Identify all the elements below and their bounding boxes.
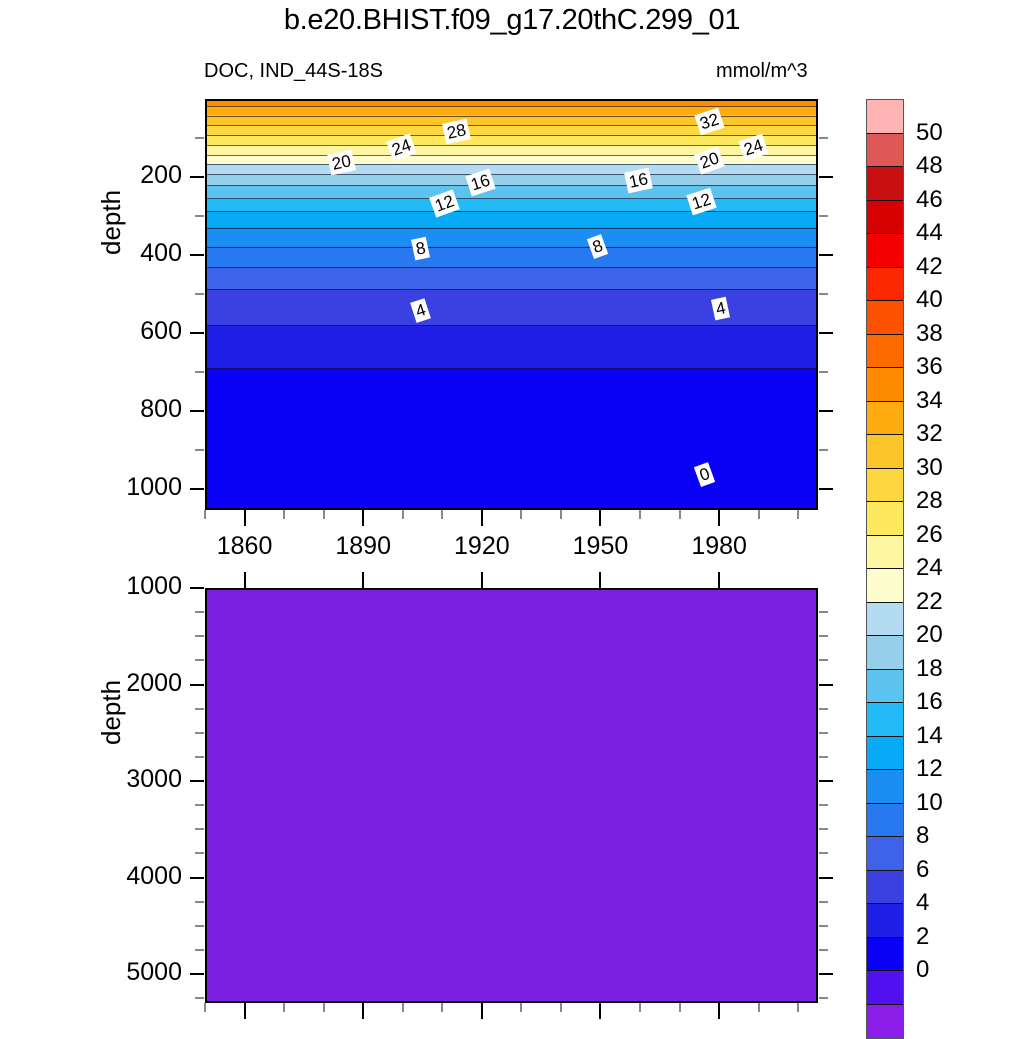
x-minor-tick [441,510,443,519]
colorbar[interactable] [866,99,904,1039]
x-major-tick [244,1003,246,1019]
y-tick-right [819,756,828,758]
x-minor-tick [283,1003,285,1012]
y-minor-tick [195,756,204,758]
x-major-tick-top [244,572,246,588]
y-minor-tick [195,635,204,637]
colorbar-cell [867,871,903,905]
y-major-tick [190,780,204,782]
y-tick-right [819,852,828,854]
x-major-tick [362,1003,364,1019]
colorbar-tick-label: 0 [916,956,929,984]
colorbar-cell [867,435,903,469]
y-tick-label: 5000 [110,958,182,987]
x-minor-tick [283,510,285,519]
y-major-tick [190,176,204,178]
colorbar-tick-label: 24 [916,554,943,582]
colorbar-tick-label: 48 [916,152,943,180]
page-title: b.e20.BHIST.f09_g17.20thC.299_01 [0,4,1024,37]
y-major-tick [190,254,204,256]
colorbar-tick-label: 32 [916,420,943,448]
colorbar-tick-label: 36 [916,353,943,381]
colorbar-cell [867,134,903,168]
x-minor-tick [441,1003,443,1012]
x-major-tick-top [599,572,601,588]
x-minor-tick [323,510,325,519]
x-major-tick [481,510,483,526]
y-major-tick [190,684,204,686]
colorbar-tick-label: 18 [916,655,943,683]
y-tick-right [819,877,833,879]
y-minor-tick [195,804,204,806]
y-major-tick [190,332,204,334]
y-tick-label: 800 [120,395,182,424]
x-major-tick [481,1003,483,1019]
contour-line [207,185,816,186]
y-tick-right [819,925,828,927]
contour-line [207,145,816,146]
y-minor-tick [195,708,204,710]
y-tick-right [819,780,833,782]
colorbar-cell [867,234,903,268]
y-tick-right [819,293,828,295]
colorbar-tick-label: 38 [916,320,943,348]
x-major-tick [244,510,246,526]
x-minor-tick [797,1003,799,1012]
colorbar-cell [867,402,903,436]
y-minor-tick [195,949,204,951]
colorbar-cell [867,770,903,804]
x-minor-tick [679,510,681,519]
x-minor-tick [323,1003,325,1012]
y-tick-label: 2000 [110,669,182,698]
x-major-tick-top [362,572,364,588]
y-tick-right [819,488,833,490]
x-major-tick [718,510,720,526]
y-minor-tick [195,659,204,661]
colorbar-tick-label: 28 [916,487,943,515]
y-tick-label: 1000 [110,572,182,601]
y-minor-tick [195,371,204,373]
colorbar-cell [867,469,903,503]
contour-line [207,174,816,175]
x-minor-tick [520,510,522,519]
colorbar-tick-label: 4 [916,889,929,917]
contour-line [207,289,816,290]
contour-line [207,325,816,326]
y-tick-label: 4000 [110,862,182,891]
colorbar-cell [867,368,903,402]
y-tick-right [819,804,828,806]
x-minor-tick [560,510,562,519]
colorbar-cell [867,636,903,670]
colorbar-cell [867,971,903,1005]
colorbar-cell [867,938,903,972]
y-minor-tick [195,611,204,613]
y-tick-right [819,684,833,686]
lower-contour-plot[interactable] [205,588,818,1003]
colorbar-tick-label: 42 [916,253,943,281]
colorbar-cell [867,167,903,201]
contour-line [207,116,816,117]
y-tick-label: 200 [120,161,182,190]
y-major-tick [190,587,204,589]
y-tick-right [819,176,833,178]
colorbar-tick-label: 12 [916,755,943,783]
colorbar-tick-label: 50 [916,119,943,147]
y-tick-right [819,611,828,613]
colorbar-cell [867,201,903,235]
colorbar-cell [867,603,903,637]
y-minor-tick [195,293,204,295]
y-tick-right [819,410,833,412]
colorbar-cell [867,804,903,838]
y-tick-right [819,215,828,217]
y-major-tick [190,410,204,412]
contour-band [207,507,816,509]
colorbar-tick-label: 10 [916,789,943,817]
x-tick-label: 1920 [432,532,532,561]
x-minor-tick [758,1003,760,1012]
y-tick-right [819,635,828,637]
colorbar-cell [867,737,903,771]
contour-line [207,211,816,212]
y-tick-label: 1000 [120,473,182,502]
x-major-tick [599,510,601,526]
x-minor-tick [758,510,760,519]
contour-line [207,125,816,126]
colorbar-cell [867,301,903,335]
y-tick-label: 400 [120,239,182,268]
x-major-tick-top [481,572,483,588]
y-tick-right [819,973,833,975]
y-tick-right [819,828,828,830]
colorbar-tick-label: 26 [916,521,943,549]
colorbar-cell [867,569,903,603]
contour-line [207,247,816,248]
colorbar-tick-label: 46 [916,186,943,214]
colorbar-cell [867,268,903,302]
contour-line [207,155,816,156]
y-tick-right [819,949,828,951]
x-minor-tick [797,510,799,519]
y-major-tick [190,877,204,879]
y-minor-tick [195,925,204,927]
colorbar-cell [867,670,903,704]
subtitle-right: mmol/m^3 [716,60,808,83]
contour-line [207,228,816,229]
x-minor-tick [204,1003,206,1012]
y-tick-right [819,254,833,256]
colorbar-cell [867,335,903,369]
y-tick-right [819,997,828,999]
x-major-tick [599,1003,601,1019]
colorbar-tick-label: 14 [916,722,943,750]
x-tick-label: 1950 [550,532,650,561]
colorbar-tick-label: 22 [916,588,943,616]
colorbar-cell [867,837,903,871]
x-major-tick-top [718,572,720,588]
x-minor-tick [679,1003,681,1012]
y-tick-label: 600 [120,317,182,346]
colorbar-cell [867,703,903,737]
x-tick-label: 1860 [195,532,295,561]
colorbar-tick-label: 20 [916,621,943,649]
y-minor-tick [195,997,204,999]
y-tick-right [819,901,828,903]
colorbar-tick-label: 2 [916,923,929,951]
colorbar-cell [867,502,903,536]
x-major-tick [362,510,364,526]
x-minor-tick [204,510,206,519]
contour-line [207,135,816,136]
y-minor-tick [195,137,204,139]
x-minor-tick [639,510,641,519]
y-tick-right [819,708,828,710]
y-tick-right [819,332,833,334]
contour-line [207,267,816,268]
colorbar-cell [867,536,903,570]
y-minor-tick [195,732,204,734]
x-tick-label: 1890 [313,532,413,561]
contour-band [207,509,816,510]
y-minor-tick [195,828,204,830]
y-tick-label: 3000 [110,765,182,794]
colorbar-tick-label: 40 [916,286,943,314]
x-minor-tick [520,1003,522,1012]
y-major-tick [190,973,204,975]
y-tick-right [819,371,828,373]
x-minor-tick [402,1003,404,1012]
y-minor-tick [195,449,204,451]
y-minor-tick [195,215,204,217]
y-major-tick [190,488,204,490]
y-tick-right [819,137,828,139]
x-tick-label: 1980 [669,532,769,561]
colorbar-tick-label: 8 [916,822,929,850]
x-minor-tick [402,510,404,519]
colorbar-tick-label: 6 [916,856,929,884]
y-tick-right [819,732,828,734]
contour-line [207,368,816,369]
y-minor-tick [195,852,204,854]
y-minor-tick [195,901,204,903]
colorbar-tick-label: 30 [916,454,943,482]
subtitle-left: DOC, IND_44S-18S [204,60,383,83]
colorbar-tick-label: 34 [916,387,943,415]
colorbar-cell [867,1005,903,1039]
x-minor-tick [639,1003,641,1012]
y-tick-right [819,659,828,661]
colorbar-cell [867,904,903,938]
figure-root: b.e20.BHIST.f09_g17.20thC.299_01 DOC, IN… [0,0,1024,1024]
colorbar-tick-label: 44 [916,219,943,247]
colorbar-tick-label: 16 [916,688,943,716]
contour-line [207,198,816,199]
x-minor-tick [560,1003,562,1012]
contour-line [207,106,816,107]
colorbar-cell [867,100,903,134]
y-tick-right [819,449,828,451]
x-major-tick [718,1003,720,1019]
